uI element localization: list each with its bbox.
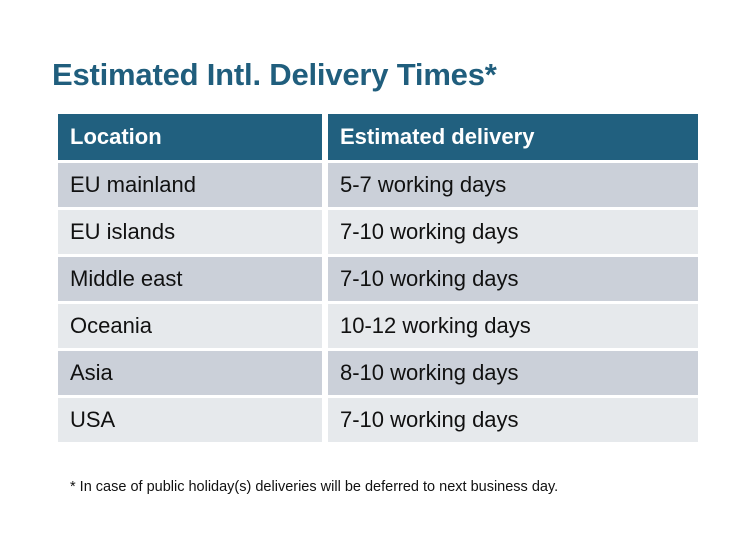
table-row: Asia 8-10 working days	[58, 351, 698, 395]
table-body: EU mainland 5-7 working days EU islands …	[58, 163, 698, 442]
table-header: Location Estimated delivery	[58, 114, 698, 160]
cell-delivery: 5-7 working days	[328, 163, 698, 207]
cell-delivery: 7-10 working days	[328, 257, 698, 301]
cell-location: Asia	[58, 351, 322, 395]
cell-location: EU islands	[58, 210, 322, 254]
cell-location: EU mainland	[58, 163, 322, 207]
cell-location: USA	[58, 398, 322, 442]
cell-delivery: 7-10 working days	[328, 398, 698, 442]
table-header-row: Location Estimated delivery	[58, 114, 698, 160]
cell-delivery: 8-10 working days	[328, 351, 698, 395]
page-title: Estimated Intl. Delivery Times*	[52, 57, 497, 93]
delivery-times-table: Location Estimated delivery EU mainland …	[52, 111, 704, 445]
table-row: EU islands 7-10 working days	[58, 210, 698, 254]
column-header-delivery: Estimated delivery	[328, 114, 698, 160]
table-row: EU mainland 5-7 working days	[58, 163, 698, 207]
cell-location: Oceania	[58, 304, 322, 348]
column-header-location: Location	[58, 114, 322, 160]
table-row: USA 7-10 working days	[58, 398, 698, 442]
delivery-times-page: Estimated Intl. Delivery Times* Location…	[0, 0, 745, 536]
cell-delivery: 7-10 working days	[328, 210, 698, 254]
footnote: * In case of public holiday(s) deliverie…	[70, 479, 558, 495]
cell-delivery: 10-12 working days	[328, 304, 698, 348]
table-row: Oceania 10-12 working days	[58, 304, 698, 348]
table-row: Middle east 7-10 working days	[58, 257, 698, 301]
cell-location: Middle east	[58, 257, 322, 301]
